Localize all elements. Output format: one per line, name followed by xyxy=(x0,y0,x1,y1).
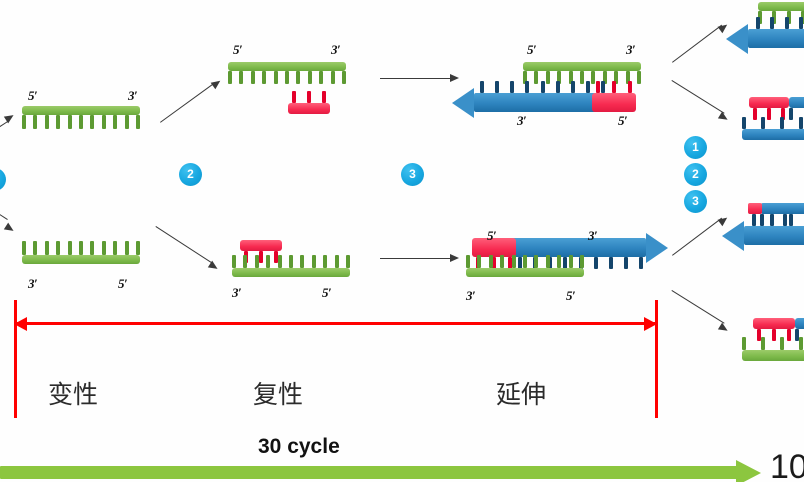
prime-label: 3′ xyxy=(588,228,597,244)
strand-teeth xyxy=(756,17,804,29)
prime-label: 3′ xyxy=(466,288,475,304)
arrow-shaft xyxy=(744,226,804,245)
phase-label-denaturation: 变性 xyxy=(48,375,98,411)
flow-arrow-line xyxy=(380,78,454,79)
product-2-new-strand-upper xyxy=(789,97,804,108)
template-strand-extending-bottom xyxy=(466,268,584,277)
prime-label: 5′ xyxy=(233,42,242,58)
prime-label: 3′ xyxy=(232,285,241,301)
bracket-arrow-head-right xyxy=(644,317,657,331)
prime-label: 5′ xyxy=(527,42,536,58)
flow-arrow-line xyxy=(672,25,722,63)
product-4-new-strand xyxy=(795,318,804,329)
primer-strand-extending-top xyxy=(592,93,636,112)
strand-backbone xyxy=(795,318,804,329)
flow-arrow-head xyxy=(211,77,223,89)
strand-backbone xyxy=(760,203,804,214)
prime-label: 5′ xyxy=(618,113,627,129)
strand-backbone xyxy=(742,129,804,140)
prime-label: 5′ xyxy=(566,288,575,304)
flow-arrow-head xyxy=(718,112,730,124)
strand-backbone xyxy=(758,2,804,11)
strand-backbone xyxy=(288,103,330,114)
product-3-primer xyxy=(748,203,762,214)
step-circle-right-2: 2 xyxy=(684,163,707,186)
flow-arrow-head xyxy=(208,261,220,273)
strand-teeth xyxy=(742,117,804,129)
pcr-diagram: 5′ 3′ 3′ 5′ 1 2 xyxy=(0,0,804,482)
prime-label: 3′ xyxy=(626,42,635,58)
strand-teeth xyxy=(22,241,140,255)
strand-backbone xyxy=(523,62,641,71)
prime-label: 5′ xyxy=(118,276,127,292)
strand-backbone xyxy=(232,268,350,277)
template-strand-annealed-top xyxy=(228,62,346,71)
strand-backbone xyxy=(466,268,584,277)
prime-label: 5′ xyxy=(487,228,496,244)
step-circle-2: 2 xyxy=(179,163,202,186)
prime-label: 3′ xyxy=(28,276,37,292)
product-2-new-strand-lower xyxy=(742,129,804,140)
strand-teeth xyxy=(752,214,804,226)
flow-arrow-line xyxy=(671,290,724,324)
strand-teeth xyxy=(232,255,350,268)
strand-backbone xyxy=(22,255,140,264)
prime-label: 3′ xyxy=(517,113,526,129)
template-strand-bottom xyxy=(22,255,140,264)
strand-backbone xyxy=(228,62,346,71)
step-circle-1-partial: 1 xyxy=(0,168,6,191)
flow-arrow-line xyxy=(155,226,213,264)
timeline-arrow-head xyxy=(736,460,761,482)
strand-backbone xyxy=(789,97,804,108)
strand-backbone xyxy=(749,97,789,108)
bracket-span-line xyxy=(16,322,655,325)
product-1-template xyxy=(758,2,804,11)
step-circle-right-1: 1 xyxy=(684,136,707,159)
product-4-template xyxy=(742,350,804,361)
prime-label: 5′ xyxy=(322,285,331,301)
timeline-bar xyxy=(0,466,738,479)
flow-arrow-line xyxy=(671,80,724,114)
step-circle-3: 3 xyxy=(401,163,424,186)
template-strand-extending-top xyxy=(523,62,641,71)
flow-arrow-line xyxy=(160,82,216,123)
prime-label: 5′ xyxy=(28,88,37,104)
product-3-upper xyxy=(760,203,804,214)
prime-label: 3′ xyxy=(128,88,137,104)
phase-label-extension: 延伸 xyxy=(496,375,546,411)
arrow-shaft xyxy=(748,29,804,48)
cycle-count-label: 30 cycle xyxy=(258,435,340,459)
strand-teeth xyxy=(466,255,584,268)
flow-arrow-head xyxy=(450,254,459,262)
strand-backbone xyxy=(742,350,804,361)
product-1-new-strand xyxy=(726,29,804,48)
primer-strand-top xyxy=(288,103,330,114)
flow-arrow-head xyxy=(718,323,730,335)
arrow-head xyxy=(726,24,748,54)
strand-backbone xyxy=(592,93,636,112)
arrow-head xyxy=(646,233,668,263)
flow-arrow-line xyxy=(0,205,8,220)
strand-teeth xyxy=(592,81,636,93)
phase-label-annealing: 复性 xyxy=(253,375,303,411)
product-2-primer xyxy=(749,97,789,108)
arrow-head xyxy=(452,88,474,118)
flow-arrow-head xyxy=(4,223,16,235)
strand-teeth xyxy=(22,115,140,129)
polymerase-arrow-left xyxy=(452,93,612,112)
tail-number-label: 10 xyxy=(770,448,804,482)
flow-arrow-line xyxy=(380,258,454,259)
product-4-primer xyxy=(753,318,795,329)
strand-teeth xyxy=(288,91,330,103)
step-circle-right-3: 3 xyxy=(684,190,707,213)
bracket-arrow-head-left xyxy=(14,317,27,331)
strand-teeth xyxy=(480,81,605,93)
strand-backbone xyxy=(753,318,795,329)
flow-arrow-head xyxy=(450,74,459,82)
product-3-new-strand xyxy=(722,226,804,245)
template-strand-top xyxy=(22,106,140,115)
strand-backbone xyxy=(22,106,140,115)
strand-teeth xyxy=(742,337,804,350)
arrow-head xyxy=(722,221,744,251)
flow-arrow-line xyxy=(672,218,722,256)
strand-teeth xyxy=(228,71,346,84)
strand-backbone xyxy=(240,240,282,251)
prime-label: 3′ xyxy=(331,42,340,58)
primer-strand-bottom xyxy=(240,240,282,251)
template-strand-annealed-bottom xyxy=(232,268,350,277)
